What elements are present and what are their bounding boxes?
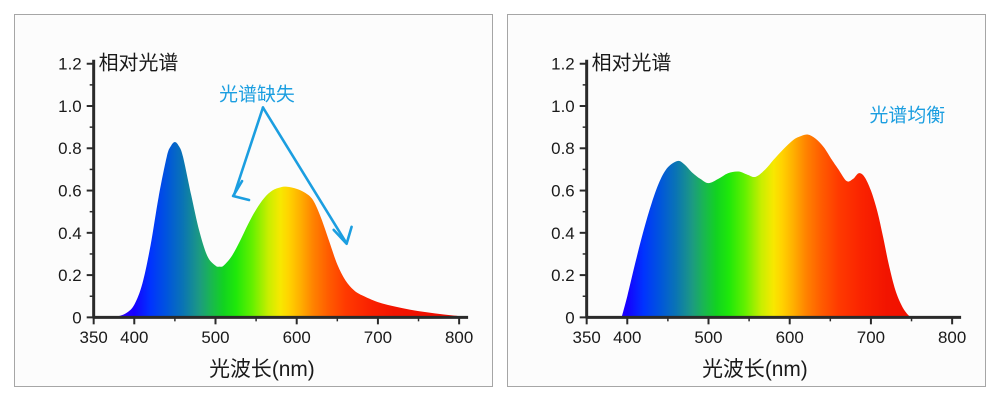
plot-area-right: 00.20.40.60.81.01.2 350400500600700800 相… xyxy=(508,15,985,386)
chart-title-right: 相对光谱 xyxy=(592,52,672,75)
right-text-layer: 相对光谱 光谱均衡 光波长(nm) xyxy=(508,15,985,386)
x-axis-title-left: 光波长(nm) xyxy=(209,358,315,381)
chart-title-left: 相对光谱 xyxy=(99,52,179,75)
annotation-label-right: 光谱均衡 xyxy=(870,104,946,126)
figure-root: 00.20.40.60.81.01.2 350400500600700800 相… xyxy=(0,0,1000,401)
plot-area-left: 00.20.40.60.81.01.2 350400500600700800 相… xyxy=(15,15,492,386)
x-axis-title-right: 光波长(nm) xyxy=(702,358,808,381)
left-text-layer: 相对光谱 光谱缺失 光波长(nm) xyxy=(15,15,492,386)
chart-panel-left: 00.20.40.60.81.01.2 350400500600700800 相… xyxy=(14,14,493,387)
annotation-label-left: 光谱缺失 xyxy=(219,84,295,106)
chart-panel-right: 00.20.40.60.81.01.2 350400500600700800 相… xyxy=(507,14,986,387)
